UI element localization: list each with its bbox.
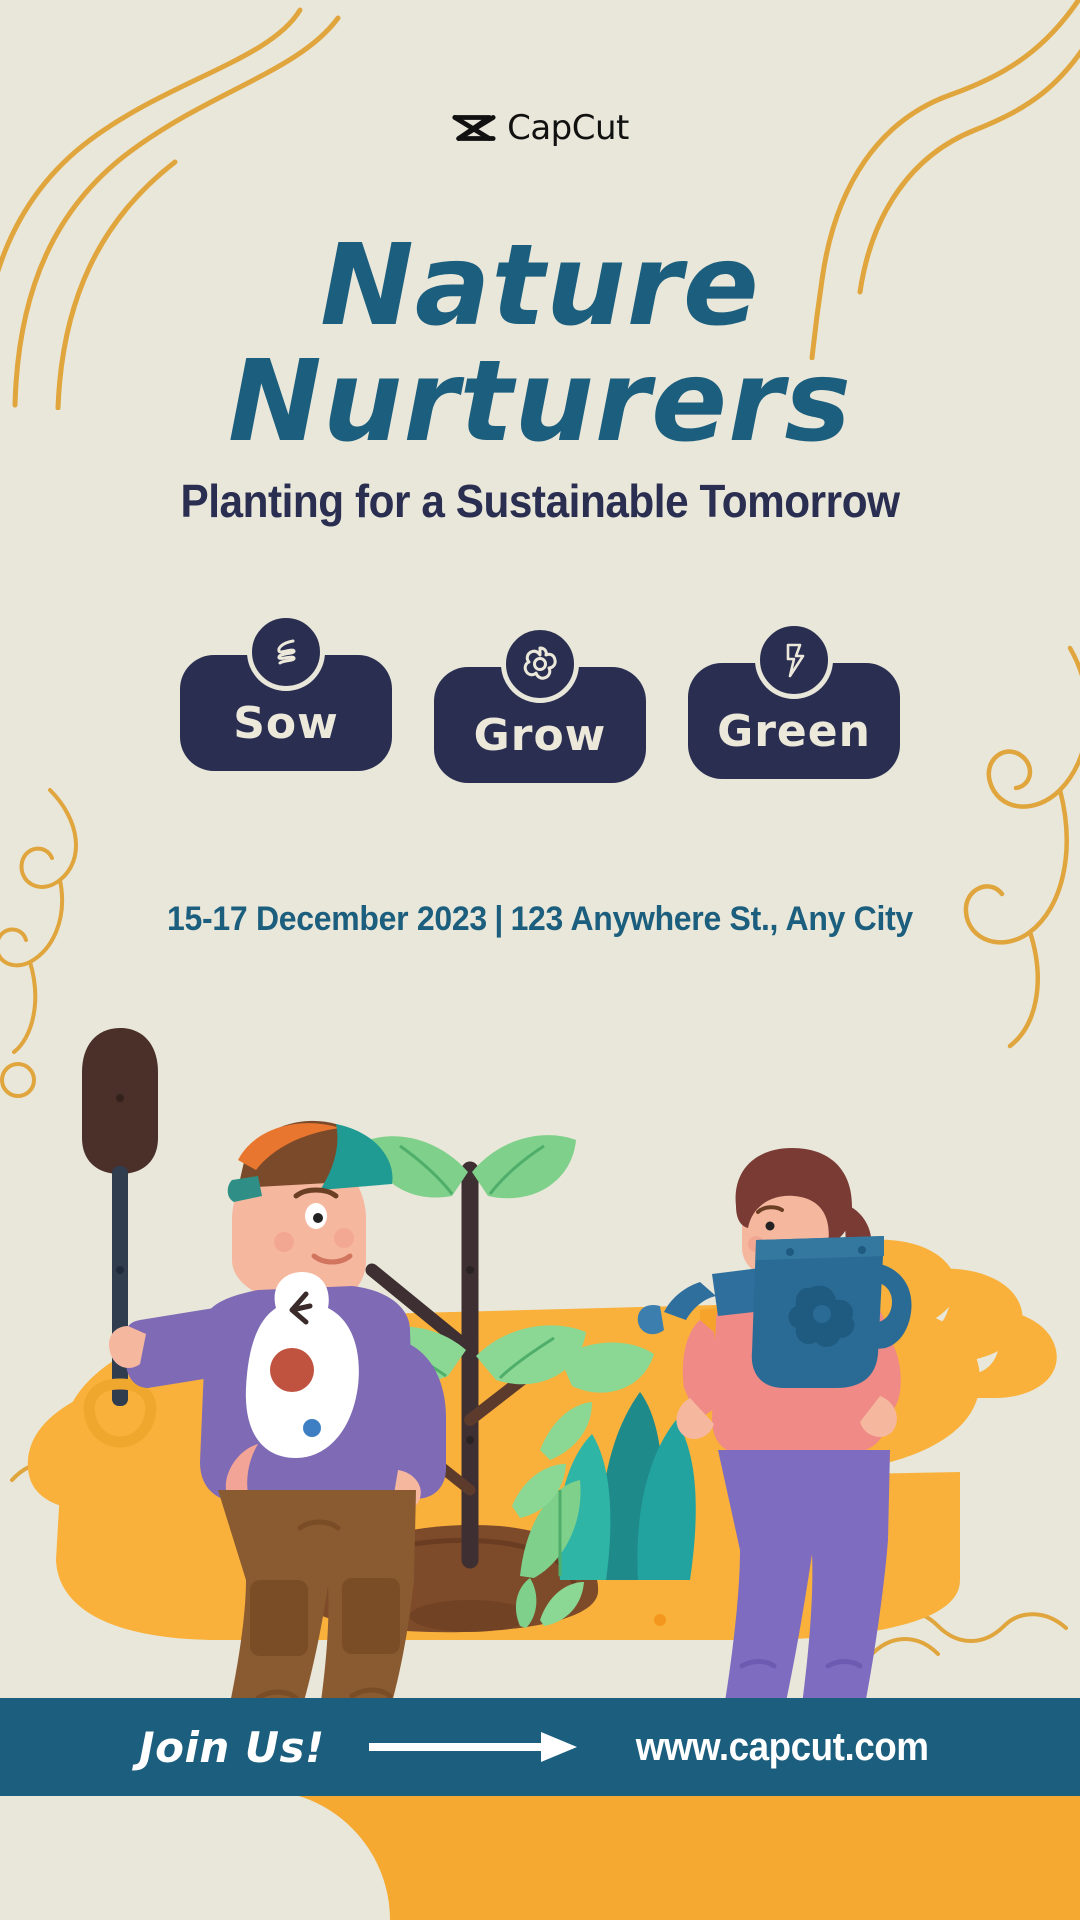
footer: Join Us! www.capcut.com — [0, 1698, 1080, 1920]
website-url[interactable]: www.capcut.com — [635, 1725, 928, 1770]
title-line-1: Nature — [0, 232, 1080, 342]
pill-grow[interactable]: Grow — [434, 667, 646, 783]
event-separator: | — [487, 900, 511, 938]
subtitle: Planting for a Sustainable Tomorrow — [43, 474, 1037, 528]
event-dates: 15-17 December 2023 — [167, 900, 487, 938]
seedling-scribble-icon — [247, 613, 325, 691]
join-us-label: Join Us! — [139, 1723, 325, 1772]
event-details: 15-17 December 2023|123 Anywhere St., An… — [32, 900, 1047, 939]
event-address: 123 Anywhere St., Any City — [511, 900, 913, 938]
capcut-logo-icon — [451, 111, 497, 145]
footer-orange-band — [0, 1790, 1080, 1920]
capcut-logo: CapCut — [0, 108, 1080, 148]
pill-green[interactable]: Green — [688, 663, 900, 779]
poster-canvas: CapCut Nature Nurturers Planting for a S… — [0, 0, 1080, 1920]
gardeners-illustration — [0, 1020, 1080, 1700]
pill-sow[interactable]: Sow — [180, 655, 392, 771]
lightning-bolt-icon — [755, 621, 833, 699]
feature-pill-row: Sow Grow Green — [0, 655, 1080, 783]
right-arrow-icon — [369, 1730, 579, 1764]
capcut-logo-text: CapCut — [507, 108, 629, 148]
title-block: Nature Nurturers Planting for a Sustaina… — [0, 232, 1080, 528]
footer-cta-bar: Join Us! www.capcut.com — [0, 1698, 1080, 1796]
title-line-2: Nurturers — [0, 348, 1080, 458]
flower-icon — [501, 625, 579, 703]
